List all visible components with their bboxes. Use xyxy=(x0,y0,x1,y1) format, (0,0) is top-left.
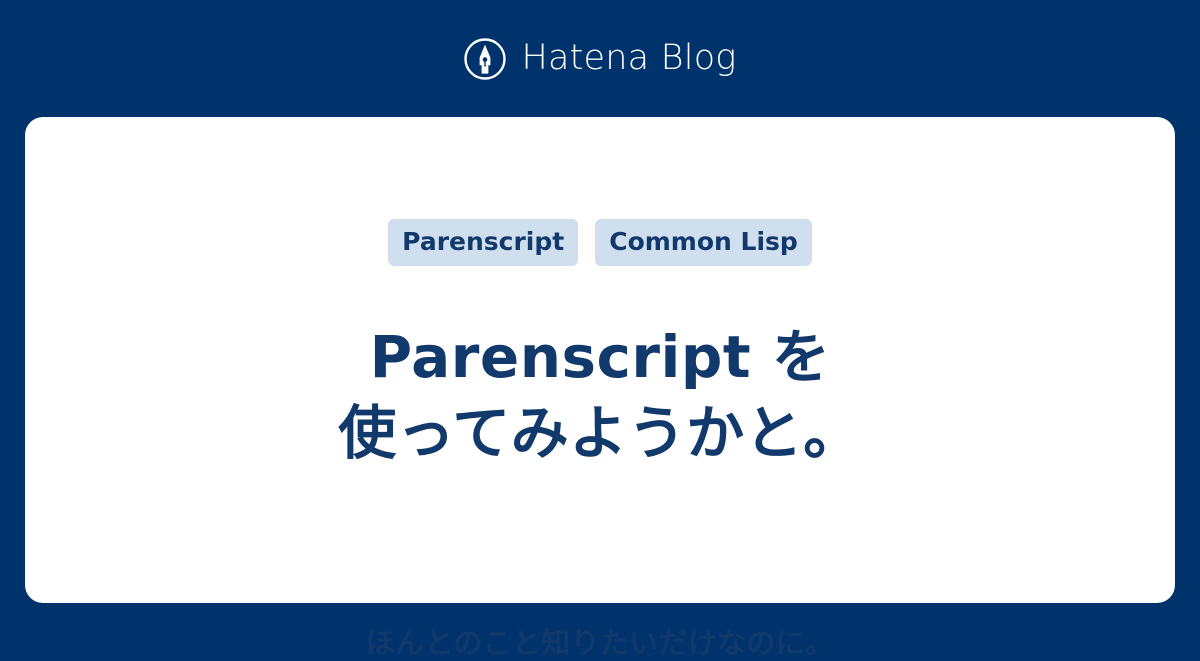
entry-card: Parenscript Common Lisp Parenscript を 使っ… xyxy=(25,117,1175,603)
entry-title-line-1: Parenscript を xyxy=(85,319,1115,396)
tag-common-lisp[interactable]: Common Lisp xyxy=(595,219,812,266)
tag-list: Parenscript Common Lisp xyxy=(25,219,1175,266)
entry-title-line-2: 使ってみようかと。 xyxy=(85,395,1115,472)
brand-header: Hatena Blog xyxy=(0,0,1200,117)
brand-name: Hatena Blog xyxy=(521,41,736,76)
fountain-pen-nib-circle-icon xyxy=(463,37,507,81)
og-image-canvas: Hatena Blog Parenscript Common Lisp Pare… xyxy=(0,0,1200,630)
blog-subtitle: ほんとのこと知りたいだけなのに。 xyxy=(85,626,1115,661)
tag-parenscript[interactable]: Parenscript xyxy=(388,219,578,266)
entry-title: Parenscript を 使ってみようかと。 xyxy=(85,319,1115,472)
